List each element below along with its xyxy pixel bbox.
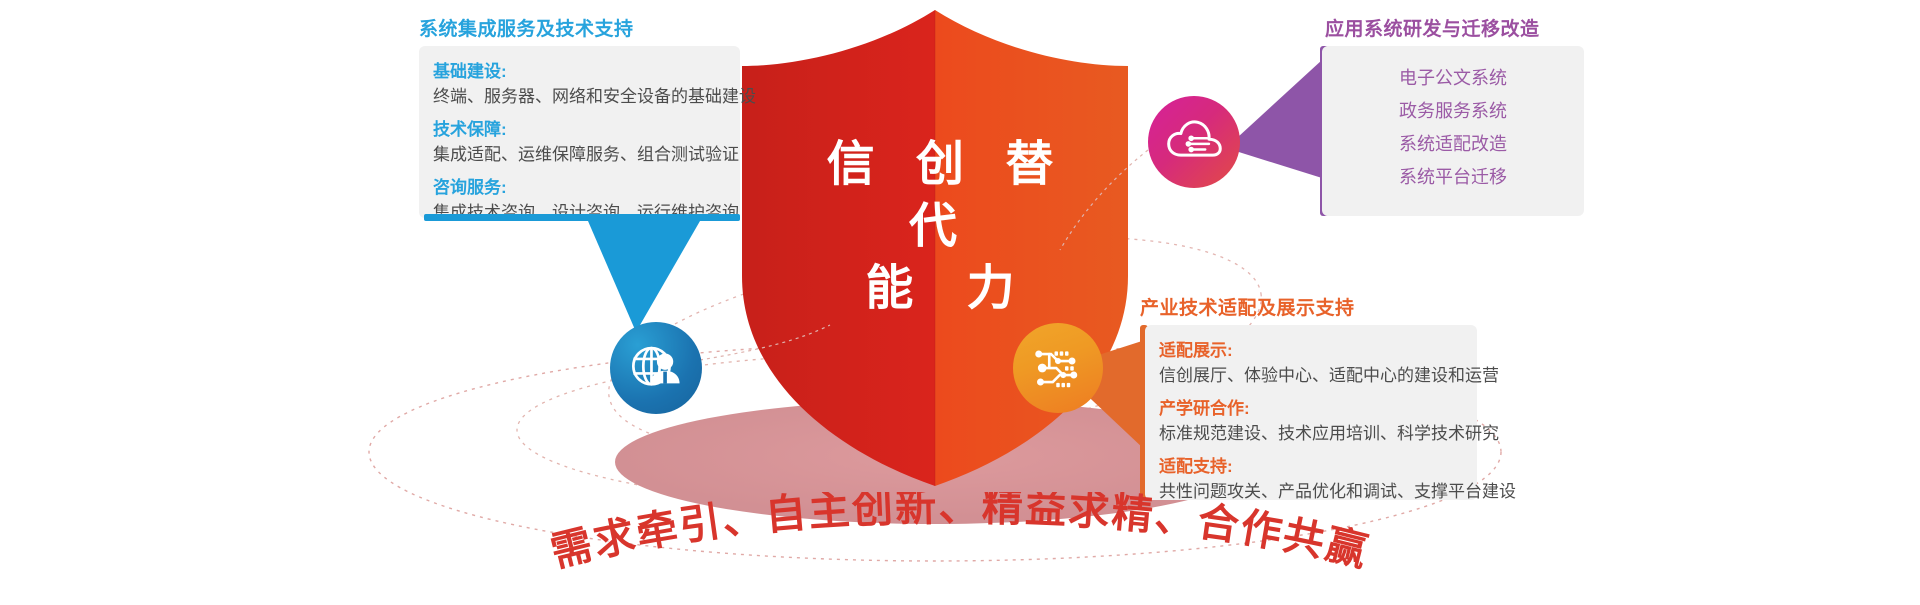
blue-callout-tail (588, 221, 700, 332)
group-heading: 适配展示: (1159, 339, 1477, 363)
list-item: 政务服务系统 (1322, 95, 1584, 128)
panel-title-system-integration: 系统集成服务及技术支持 (419, 14, 634, 41)
panel-title-application-dev: 应用系统研发与迁移改造 (1325, 14, 1540, 41)
tagline-tspan: 需求牵引、自主创新、精益求精、合作共赢 (546, 492, 1374, 576)
panel-group: 技术保障: 集成适配、运维保障服务、组合测试验证 (433, 118, 740, 167)
group-text: 终端、服务器、网络和安全设备的基础建设 (433, 84, 740, 109)
panel-group: 产学研合作: 标准规范建设、技术应用培训、科学技术研究 (1159, 397, 1477, 446)
group-heading: 基础建设: (433, 60, 740, 84)
list-item: 系统适配改造 (1322, 128, 1584, 161)
group-heading: 产学研合作: (1159, 397, 1477, 421)
circuit-board-glyph (1030, 340, 1086, 396)
group-text: 集成技术咨询、设计咨询、运行维护咨询 (433, 200, 740, 225)
cloud-computing-glyph (1164, 112, 1224, 172)
purple-callout-tail (1226, 60, 1322, 178)
globe-person-glyph (627, 339, 685, 397)
group-heading: 技术保障: (433, 118, 740, 142)
panel-system-integration: 基础建设: 终端、服务器、网络和安全设备的基础建设 技术保障: 集成适配、运维保… (419, 46, 740, 218)
list-item: 电子公文系统 (1322, 62, 1584, 95)
panel-title-industry-adaptation: 产业技术适配及展示支持 (1140, 293, 1355, 320)
tagline-text: 需求牵引、自主创新、精益求精、合作共赢 (546, 492, 1374, 576)
panel-group: 适配展示: 信创展厅、体验中心、适配中心的建设和运营 (1159, 339, 1477, 388)
panel-accent-bar-blue (424, 214, 740, 221)
group-text: 集成适配、运维保障服务、组合测试验证 (433, 142, 740, 167)
group-text: 信创展厅、体验中心、适配中心的建设和运营 (1159, 363, 1477, 388)
cloud-computing-icon[interactable] (1148, 96, 1240, 188)
group-heading: 咨询服务: (433, 176, 740, 200)
panel-application-dev: 电子公文系统 政务服务系统 系统适配改造 系统平台迁移 (1322, 46, 1584, 216)
globe-person-icon[interactable] (610, 322, 702, 414)
tagline-arc: 需求牵引、自主创新、精益求精、合作共赢 (480, 492, 1440, 605)
circuit-board-icon[interactable] (1013, 323, 1103, 413)
panel-industry-adaptation: 适配展示: 信创展厅、体验中心、适配中心的建设和运营 产学研合作: 标准规范建设… (1145, 325, 1477, 500)
panel-group: 基础建设: 终端、服务器、网络和安全设备的基础建设 (433, 60, 740, 109)
group-text: 标准规范建设、技术应用培训、科学技术研究 (1159, 421, 1477, 446)
group-heading: 适配支持: (1159, 455, 1477, 479)
list-item: 系统平台迁移 (1322, 161, 1584, 194)
infographic-canvas: 信 创 替 代 能 力 系统集成服务及技术支持 基础建设: 终端、服务器、网络和… (0, 0, 1920, 605)
